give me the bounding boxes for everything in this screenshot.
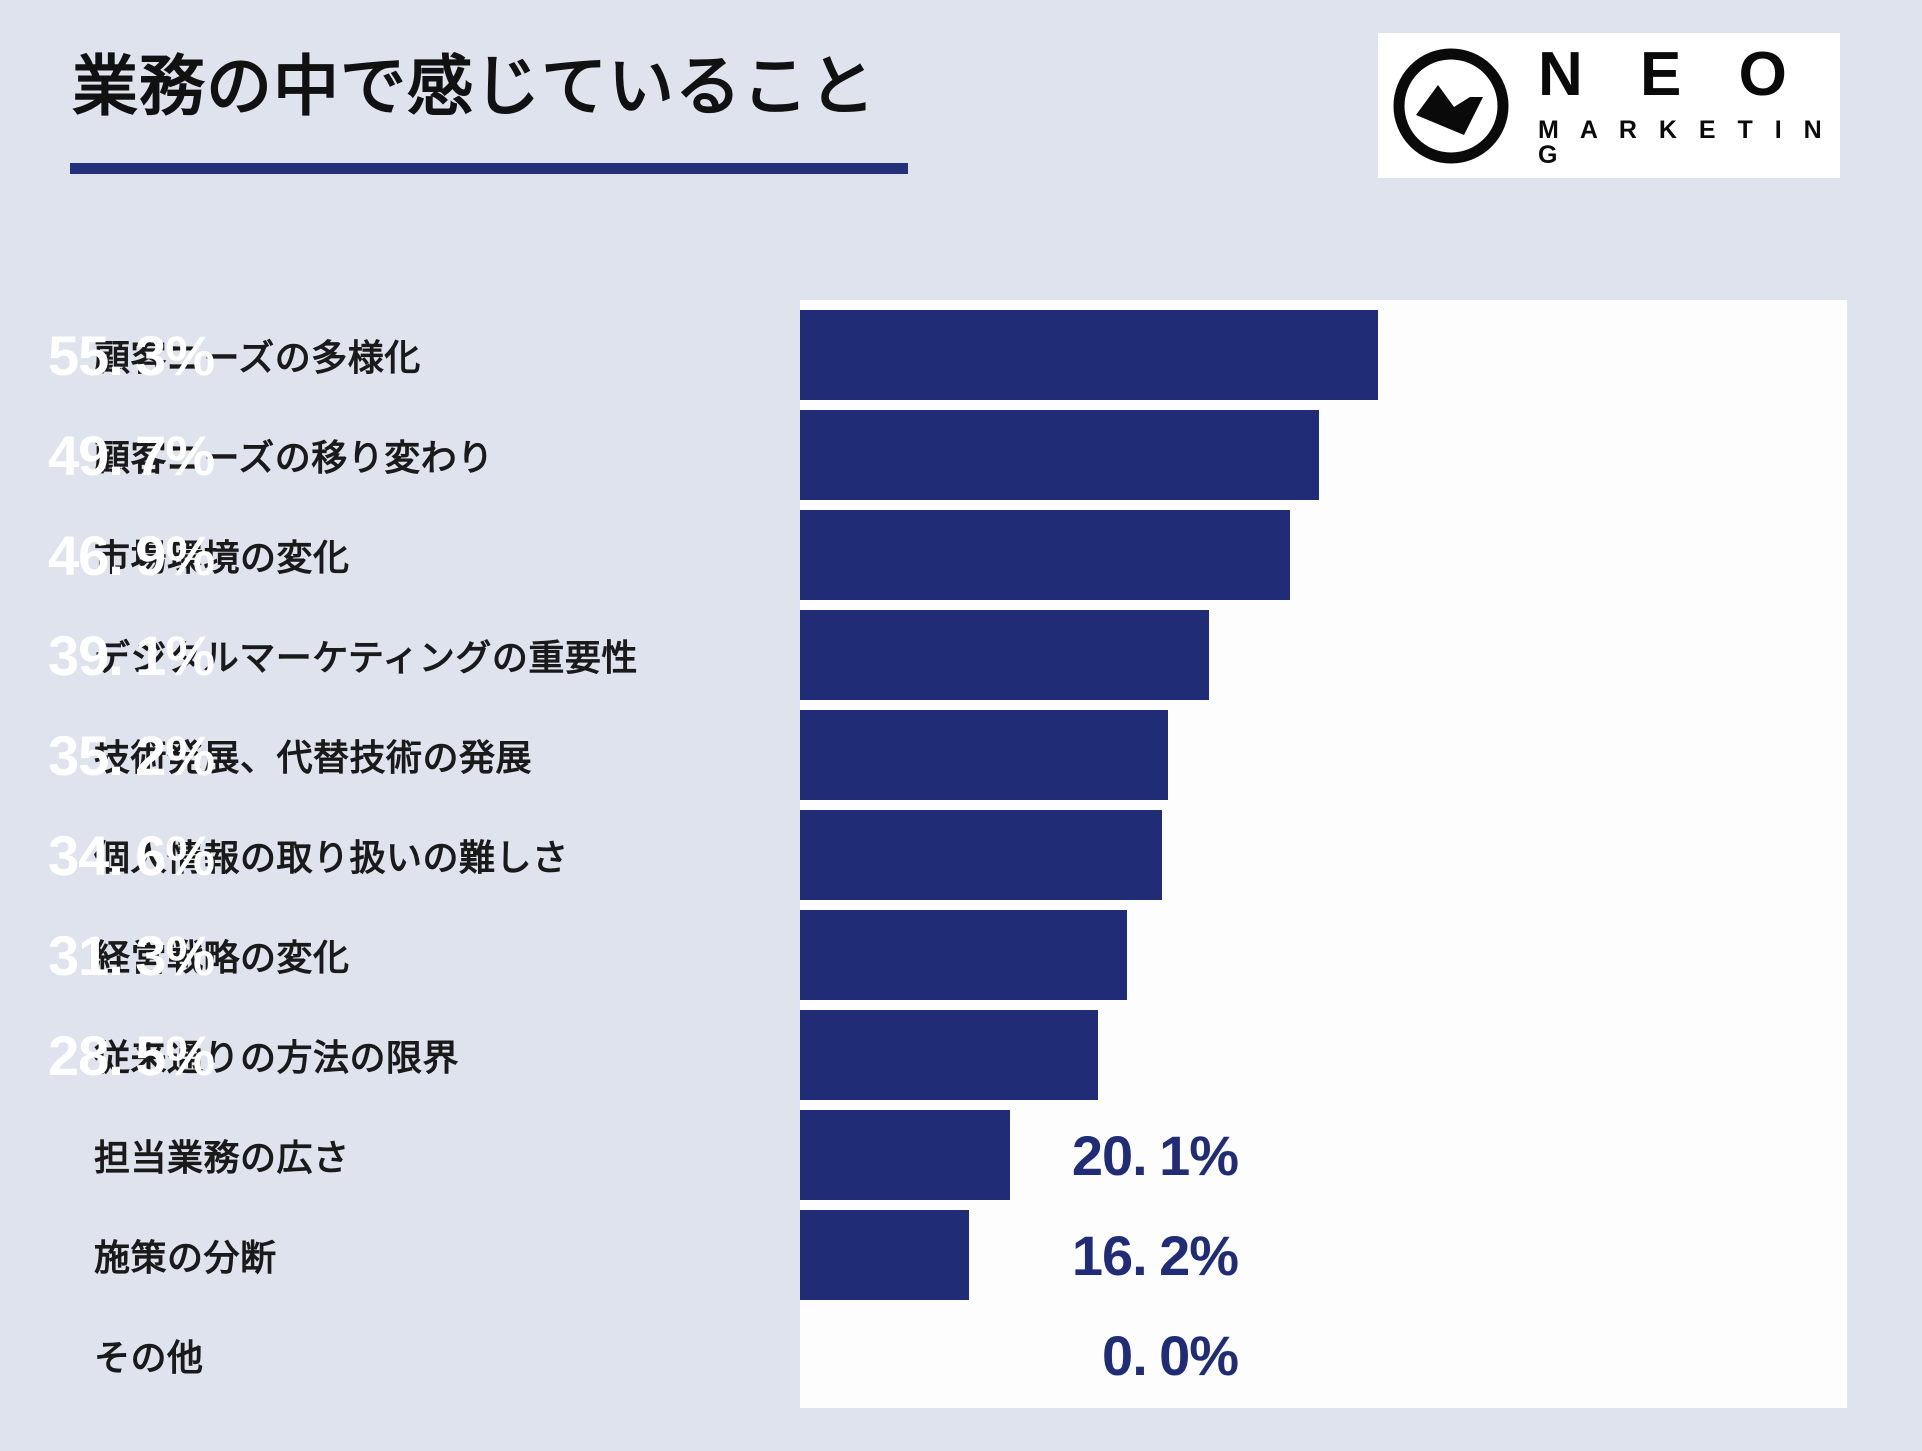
bar-value-label: 35.2% — [48, 710, 214, 800]
bar-row: 経営戦略の変化31.3% — [0, 905, 1922, 1005]
bar-row: 従来通りの方法の限界28.5% — [0, 1005, 1922, 1105]
bar-segment — [800, 710, 1168, 800]
bar-value-label: 55.3% — [48, 310, 214, 400]
bar-value-label: 16.2% — [800, 1210, 1238, 1300]
category-label: その他 — [94, 1305, 204, 1405]
bar-row: 個人情報の取り扱いの難しさ34.6% — [0, 805, 1922, 905]
page-title: 業務の中で感じていること — [72, 50, 876, 123]
logo-wordmark: N E O M A R K E T I N G — [1538, 44, 1840, 168]
bar-segment — [800, 610, 1209, 700]
bar-segment — [800, 810, 1162, 900]
category-label: 施策の分断 — [94, 1205, 277, 1305]
bar-segment — [800, 410, 1319, 500]
logo-secondary-text: M A R K E T I N G — [1538, 118, 1840, 168]
neo-circle-wave-mark-icon — [1388, 43, 1514, 169]
bar-value-label: 31.3% — [48, 910, 214, 1000]
bar-segment — [800, 310, 1378, 400]
bar-value-label: 20.1% — [800, 1110, 1238, 1200]
bar-row: 技術発展、代替技術の発展35.2% — [0, 705, 1922, 805]
logo-primary-text: N E O — [1538, 44, 1840, 106]
bar-value-label: 0.0% — [800, 1310, 1238, 1400]
bar-row: 顧客ニーズの多様化55.3% — [0, 305, 1922, 405]
bar-row: 顧客ニーズの移り変わり49.7% — [0, 405, 1922, 505]
bar-value-label: 39.1% — [48, 610, 214, 700]
bar-row: その他0.0% — [0, 1305, 1922, 1405]
bar-value-label: 34.6% — [48, 810, 214, 900]
neo-marketing-logo: N E O M A R K E T I N G — [1378, 33, 1840, 178]
slide-header: 業務の中で感じていること N E O M A R K E T I N G — [0, 0, 1922, 210]
bar-segment — [800, 510, 1290, 600]
bar-value-label: 28.5% — [48, 1010, 214, 1100]
bar-row: 担当業務の広さ20.1% — [0, 1105, 1922, 1205]
bar-value-label: 46.9% — [48, 510, 214, 600]
category-label: 担当業務の広さ — [94, 1105, 350, 1205]
bar-row: 市場環境の変化46.9% — [0, 505, 1922, 605]
bar-segment — [800, 910, 1127, 1000]
bar-row: 施策の分断16.2% — [0, 1205, 1922, 1305]
bar-segment — [800, 1010, 1098, 1100]
slide-canvas: 業務の中で感じていること N E O M A R K E T I N G 顧客ニ… — [0, 0, 1922, 1451]
bar-chart: 顧客ニーズの多様化55.3%顧客ニーズの移り変わり49.7%市場環境の変化46.… — [0, 230, 1922, 1430]
title-underline-rule — [70, 163, 908, 174]
bar-row: デジタルマーケティングの重要性39.1% — [0, 605, 1922, 705]
bar-value-label: 49.7% — [48, 410, 214, 500]
